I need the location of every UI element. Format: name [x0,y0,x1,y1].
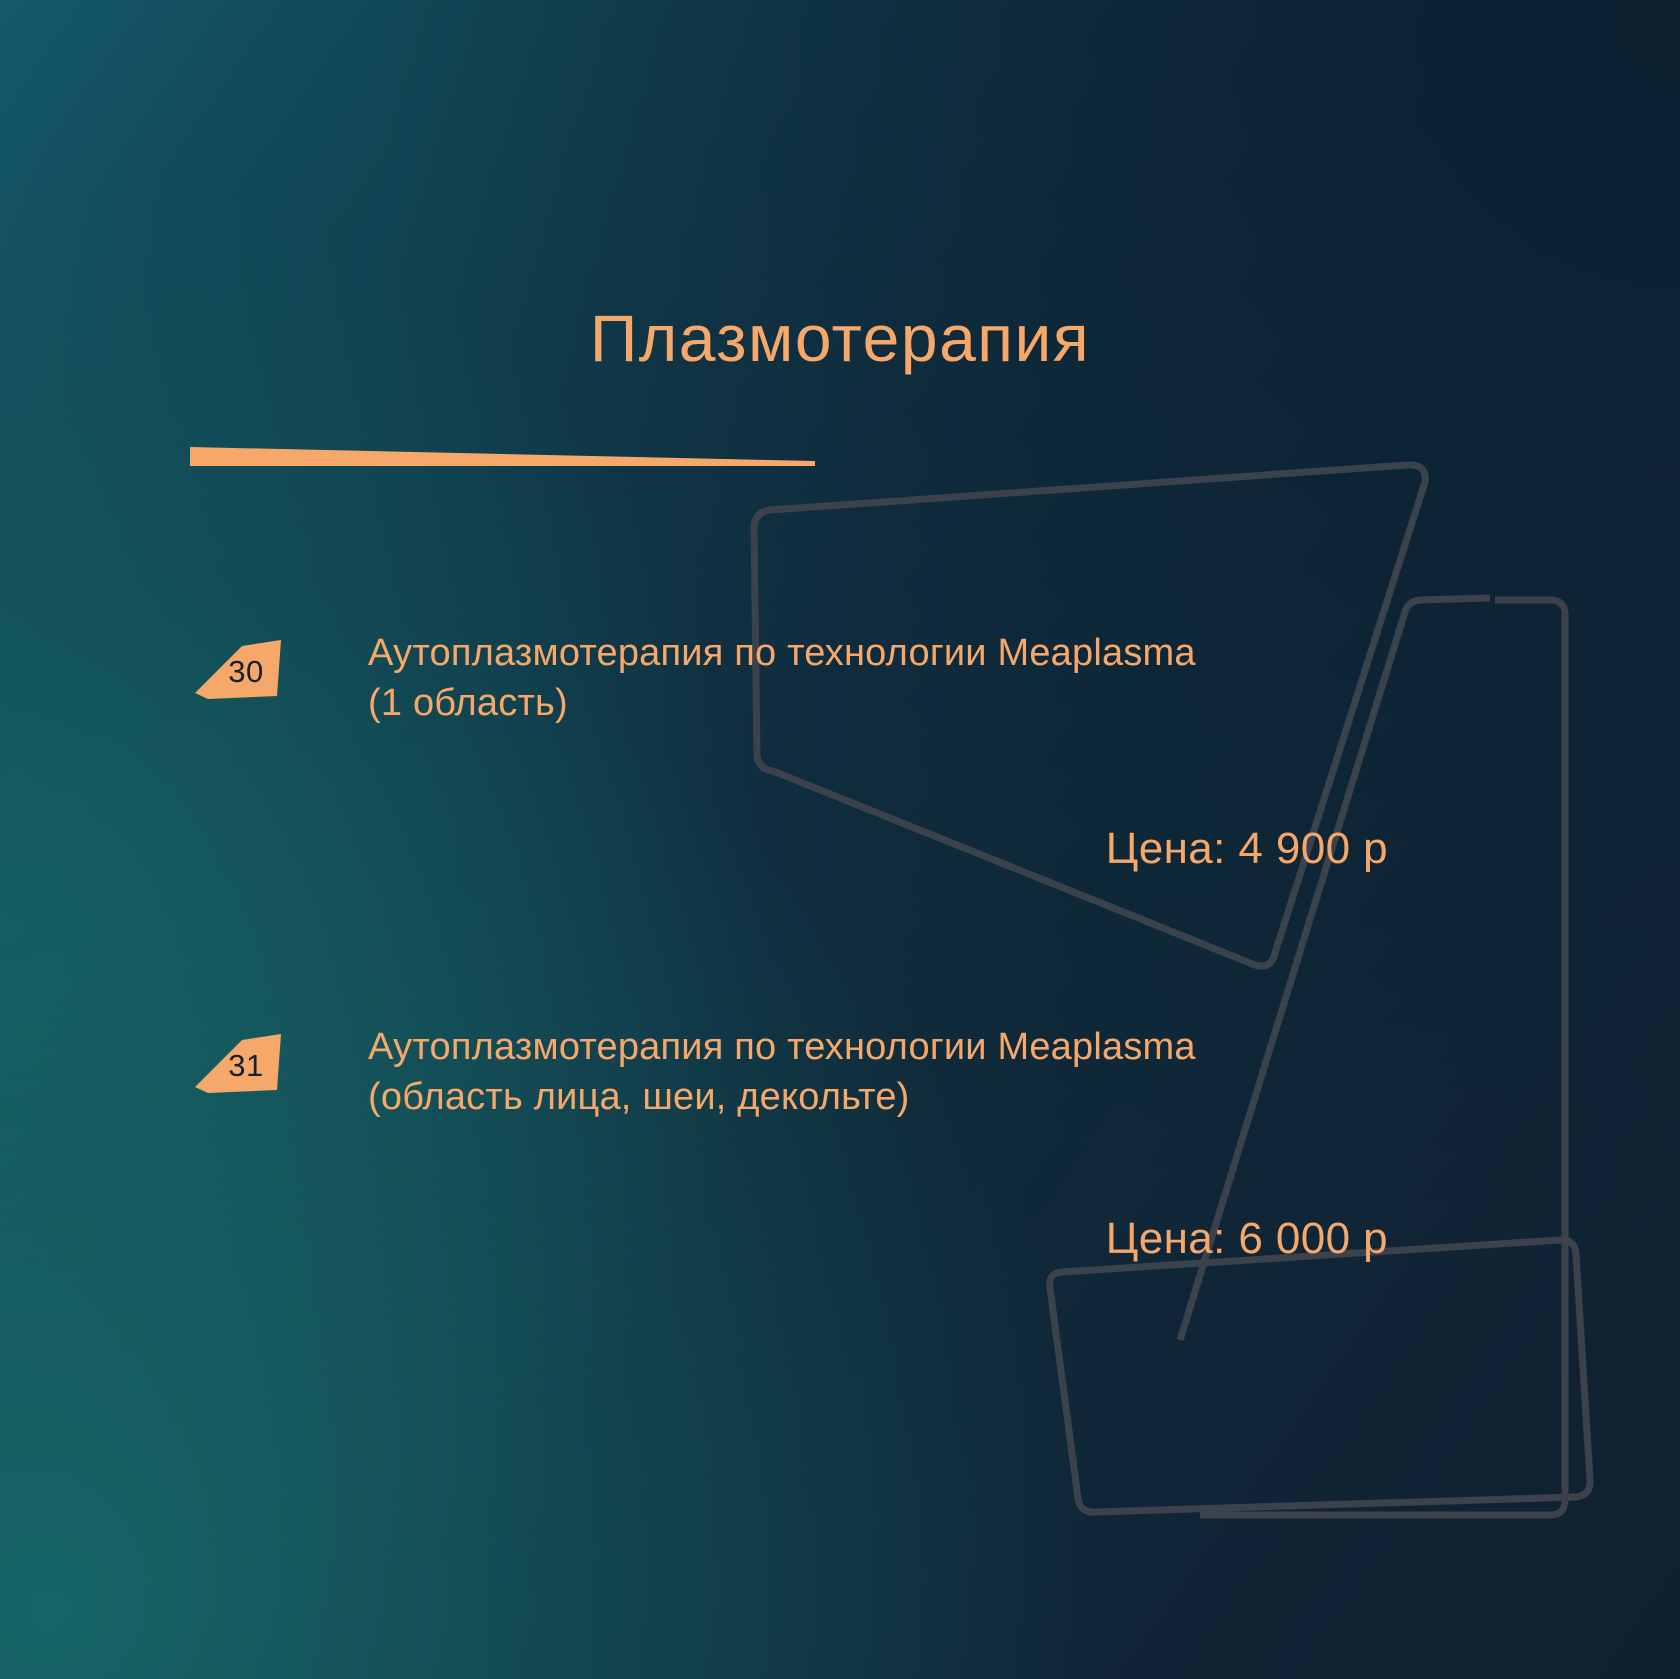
item-description: Аутоплазмотерапия по технологии Meaplasm… [368,628,1518,728]
item-number: 31 [195,1030,283,1094]
item-description-line-1: Аутоплазмотерапия по технологии Meaplasm… [368,1022,1518,1072]
title-divider [190,447,815,467]
item-number-badge: 31 [195,1030,283,1094]
item-number: 30 [195,636,283,700]
background-polygons [0,0,1680,1679]
item-description-line-1: Аутоплазмотерапия по технологии Meaplasm… [368,628,1518,678]
price-list-slide: Плазмотерапия 30 Аутоплазмотерапия по те… [0,0,1680,1679]
item-description-line-2: (область лица, шеи, декольте) [368,1072,1518,1122]
item-number-badge: 30 [195,636,283,700]
page-title: Плазмотерапия [0,302,1680,375]
item-price: Цена: 6 000 р [1106,1214,1388,1264]
item-description: Аутоплазмотерапия по технологии Meaplasm… [368,1022,1518,1122]
item-description-line-2: (1 область) [368,678,1518,728]
item-price: Цена: 4 900 р [1106,824,1388,874]
